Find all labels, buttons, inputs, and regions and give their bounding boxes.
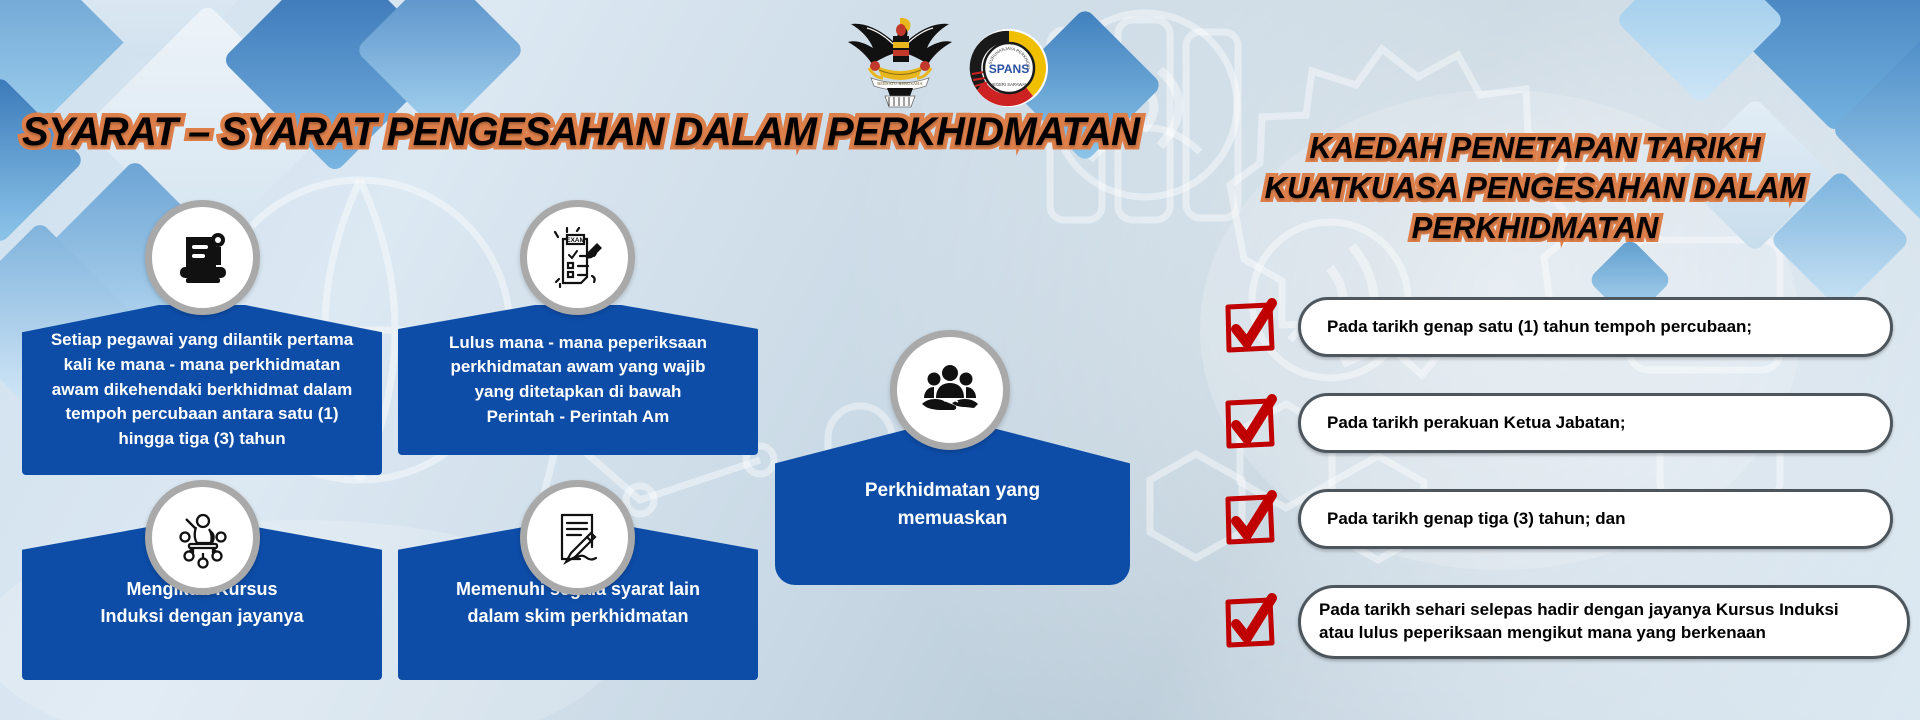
red-check-icon	[1222, 593, 1280, 651]
condition-card-1: Setiap pegawai yang dilantik pertama kal…	[22, 305, 382, 475]
signing-document-icon	[547, 507, 609, 569]
right-title-line-1: KAEDAH PENETAPAN TARIKH	[1215, 128, 1855, 168]
red-check-icon	[1222, 490, 1280, 548]
svg-text:SPANS: SPANS	[989, 62, 1029, 76]
method-pill-4: Pada tarikh sehari selepas hadir dengan …	[1298, 585, 1910, 659]
condition-icon-bubble-5	[890, 330, 1010, 450]
method-row-4: Pada tarikh sehari selepas hadir dengan …	[1222, 585, 1910, 659]
red-check-icon	[1222, 394, 1280, 452]
method-pill-3: Pada tarikh genap tiga (3) tahun; dan	[1298, 489, 1893, 549]
method-text-1: Pada tarikh genap satu (1) tahun tempoh …	[1327, 317, 1752, 337]
condition-icon-bubble-3	[145, 480, 260, 595]
condition-card-2-text: Lulus mana - mana peperiksaan perkhidmat…	[412, 331, 744, 430]
condition-icon-bubble-2: EXAM	[520, 200, 635, 315]
service-people-hand-icon	[918, 360, 982, 420]
exam-checklist-icon: EXAM	[547, 227, 609, 289]
infographic-canvas: BERSATU BERUSAHA SURU	[0, 0, 1920, 720]
method-pill-1: Pada tarikh genap satu (1) tahun tempoh …	[1298, 297, 1893, 357]
condition-icon-bubble-1	[145, 200, 260, 315]
method-text-2: Pada tarikh perakuan Ketua Jabatan;	[1327, 413, 1626, 433]
logo-group: BERSATU BERUSAHA SURU	[845, 8, 1075, 108]
method-row-1: Pada tarikh genap satu (1) tahun tempoh …	[1222, 297, 1893, 357]
red-check-icon	[1222, 298, 1280, 356]
document-seal-icon	[172, 227, 234, 289]
spans-logo-icon: SURUHANJAYA PERKHIDMATAN AWAM SPANS NEGE…	[963, 28, 1055, 108]
method-row-3: Pada tarikh genap tiga (3) tahun; dan	[1222, 489, 1893, 549]
condition-card-2: Lulus mana - mana peperiksaan perkhidmat…	[398, 305, 758, 455]
method-text-4: Pada tarikh sehari selepas hadir dengan …	[1319, 599, 1839, 645]
sarawak-coat-of-arms-icon: BERSATU BERUSAHA	[845, 8, 955, 108]
svg-text:EXAM: EXAM	[566, 237, 585, 244]
condition-card-1-text: Setiap pegawai yang dilantik pertama kal…	[36, 328, 368, 451]
right-section-title: KAEDAH PENETAPAN TARIKH KUATKUASA PENGES…	[1215, 128, 1855, 248]
method-row-2: Pada tarikh perakuan Ketua Jabatan;	[1222, 393, 1893, 453]
method-pill-2: Pada tarikh perakuan Ketua Jabatan;	[1298, 393, 1893, 453]
condition-icon-bubble-4	[520, 480, 635, 595]
svg-text:NEGERI SARAWAK: NEGERI SARAWAK	[990, 82, 1028, 87]
right-title-line-3: PERKHIDMATAN	[1215, 208, 1855, 248]
condition-card-5-text: Perkhidmatan yang memuaskan	[789, 477, 1116, 532]
method-text-3: Pada tarikh genap tiga (3) tahun; dan	[1327, 509, 1625, 529]
left-section-title: SYARAT – SYARAT PENGESAHAN DALAM PERKHID…	[22, 110, 1062, 155]
svg-text:BERSATU BERUSAHA: BERSATU BERUSAHA	[877, 81, 923, 86]
right-title-line-2: KUATKUASA PENGESAHAN DALAM	[1215, 168, 1855, 208]
training-presentation-icon	[172, 507, 234, 569]
